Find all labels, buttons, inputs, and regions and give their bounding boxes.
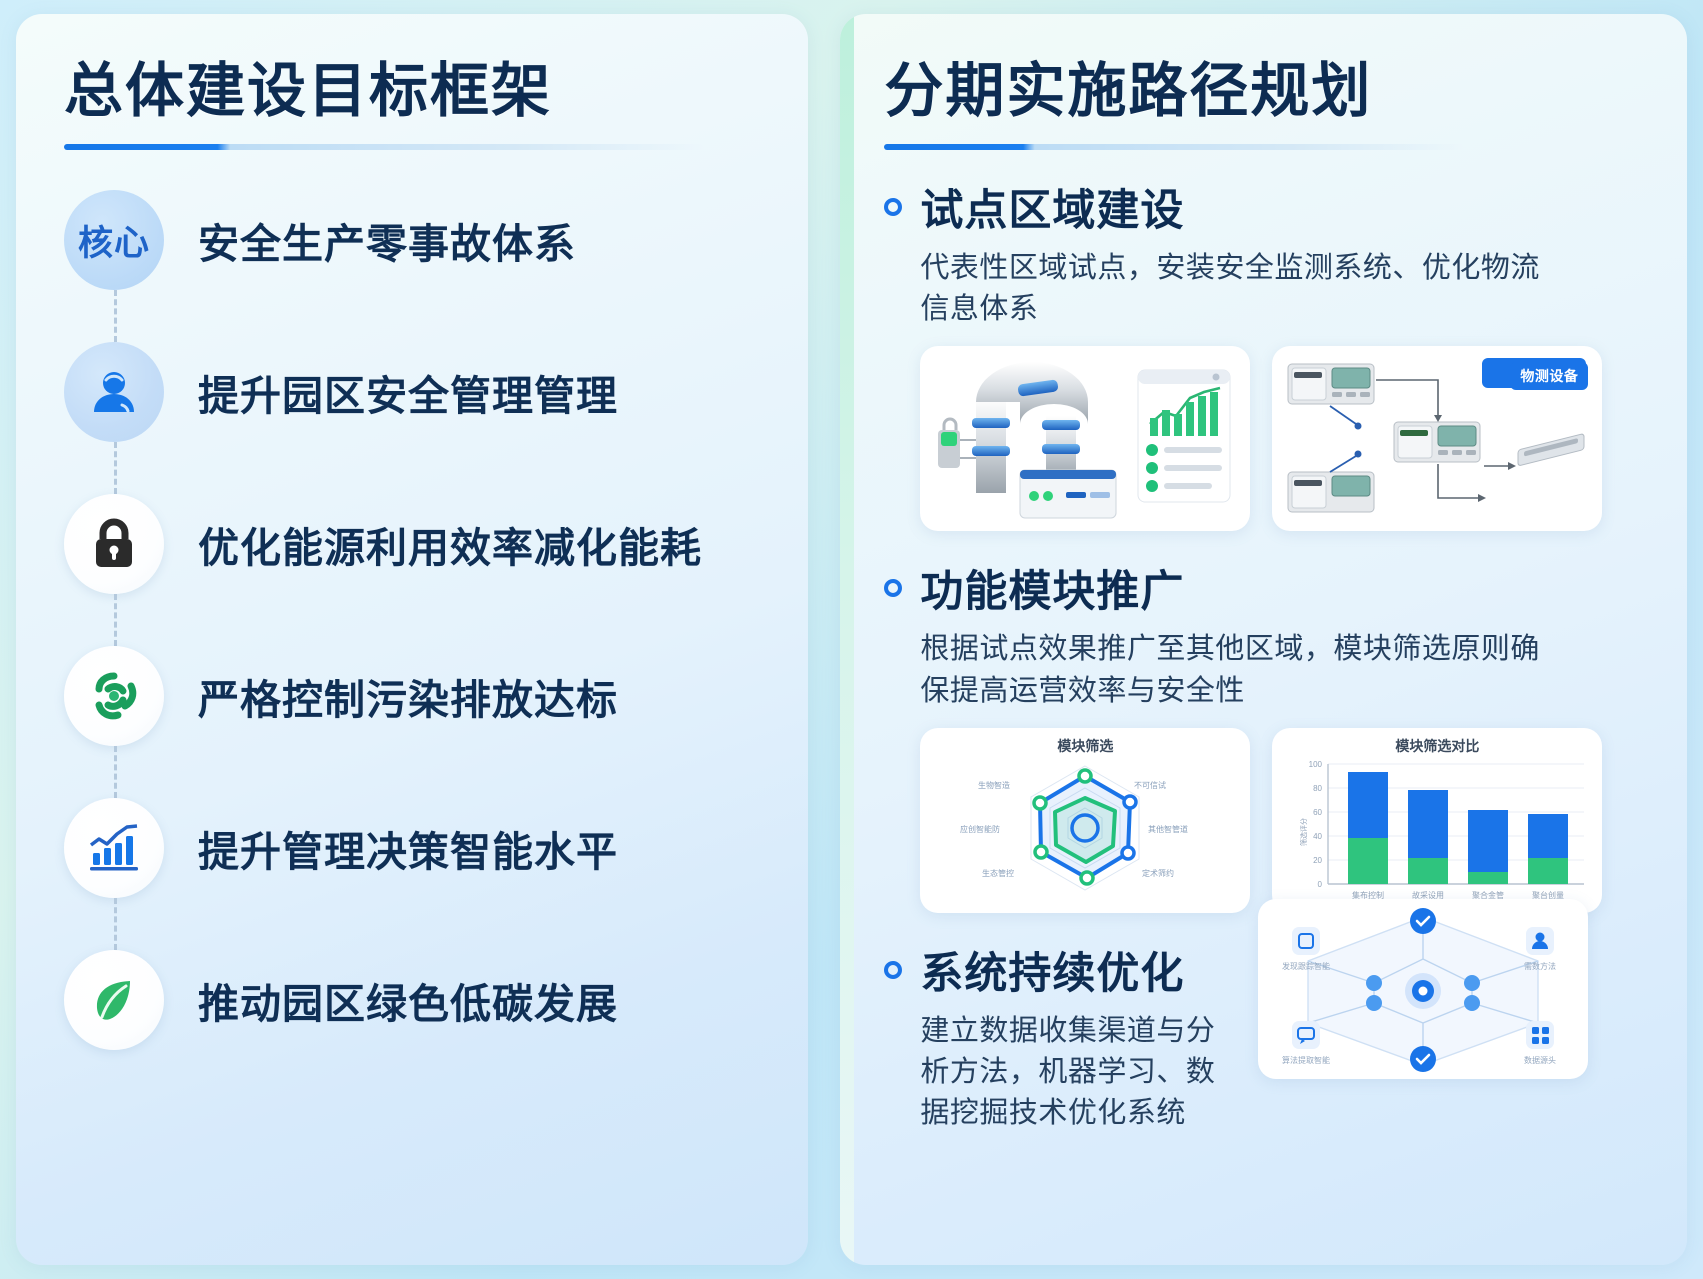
section-continuous-optimization: 系统持续优化 建立数据收集渠道与分析方法，机器学习、数据挖掘技术优化系统: [884, 939, 1643, 1135]
section-card-row: 模块筛选: [920, 728, 1643, 913]
svg-text:80: 80: [1313, 784, 1322, 793]
svg-text:数据源头: 数据源头: [1524, 1055, 1556, 1065]
radar-chart-card[interactable]: 模块筛选: [920, 728, 1250, 913]
timeline-item-label: 严格控制污染排放达标: [198, 666, 618, 726]
system-optimization-network-card[interactable]: 发现跟踪智能 需数方法 算法提取智能 数据源头: [1258, 899, 1588, 1079]
lock-icon: [64, 494, 164, 594]
svg-text:算法提取智能: 算法提取智能: [1282, 1055, 1330, 1065]
svg-text:100: 100: [1309, 760, 1323, 769]
bar-chart-icon: [64, 798, 164, 898]
bullet-ring-icon: [884, 579, 902, 597]
section-body-text: 建立数据收集渠道与分析方法，机器学习、数据挖掘技术优化系统: [920, 1011, 1244, 1135]
section-card-row: 物测设备: [920, 346, 1643, 531]
timeline-item[interactable]: 提升管理决策智能水平: [64, 798, 760, 898]
left-panel: 总体建设目标框架 核心 安全生产零事故体系 提升园区安全管理管理: [16, 14, 808, 1265]
right-title-underline: [884, 144, 1464, 150]
timeline-item[interactable]: 提升园区安全管理管理: [64, 342, 760, 442]
person-icon: [64, 342, 164, 442]
timeline-item-label: 优化能源利用效率减化能耗: [198, 514, 702, 574]
bar-chart-card[interactable]: 模块筛选对比 10080 6040 200: [1272, 728, 1602, 913]
svg-text:其他智管道: 其他智管道: [1148, 824, 1188, 834]
left-panel-title: 总体建设目标框架: [64, 58, 760, 124]
right-panel-title: 分期实施路径规划: [884, 58, 1643, 124]
section-heading: 功能模块推广: [920, 557, 1184, 619]
svg-text:发现跟踪智能: 发现跟踪智能: [1282, 961, 1330, 971]
svg-text:40: 40: [1313, 832, 1322, 841]
timeline-item[interactable]: 严格控制污染排放达标: [64, 646, 760, 746]
instrument-network-diagram[interactable]: 物测设备: [1272, 346, 1602, 531]
timeline-item[interactable]: 核心 安全生产零事故体系: [64, 190, 760, 290]
section-heading: 系统持续优化: [920, 939, 1184, 1001]
svg-text:生态管控: 生态管控: [982, 868, 1014, 878]
section-body-text: 代表性区域试点，安装安全监测系统、优化物流信息体系: [920, 248, 1560, 330]
right-panel: 分期实施路径规划 试点区域建设 代表性区域试点，安装安全监测系统、优化物流信息体…: [840, 14, 1687, 1265]
device-label-chip: 物测设备: [1510, 362, 1588, 390]
section-header[interactable]: 试点区域建设: [884, 176, 1643, 238]
section-pilot-area: 试点区域建设 代表性区域试点，安装安全监测系统、优化物流信息体系: [884, 176, 1643, 531]
svg-text:0: 0: [1318, 880, 1323, 889]
radar-chart-title: 模块筛选: [920, 736, 1250, 756]
swirl-icon: [64, 646, 164, 746]
svg-text:需数方法: 需数方法: [1524, 961, 1556, 971]
section-header[interactable]: 系统持续优化: [884, 939, 1244, 1001]
section-body-text: 根据试点效果推广至其他区域，模块筛选原则确保提高运营效率与安全性: [920, 629, 1560, 711]
bullet-ring-icon: [884, 961, 902, 979]
left-title-underline: [64, 144, 704, 150]
section-header[interactable]: 功能模块推广: [884, 557, 1643, 619]
timeline-item-label: 安全生产零事故体系: [198, 210, 576, 270]
core-badge-label: 核心: [78, 215, 150, 266]
section-heading: 试点区域建设: [920, 176, 1184, 238]
section-module-rollout: 功能模块推广 根据试点效果推广至其他区域，模块筛选原则确保提高运营效率与安全性 …: [884, 557, 1643, 912]
timeline-item[interactable]: 推动园区绿色低碳发展: [64, 950, 760, 1050]
pipeline-equipment-illustration[interactable]: [920, 346, 1250, 531]
svg-text:生物智造: 生物智造: [978, 780, 1010, 790]
core-badge: 核心: [64, 190, 164, 290]
svg-text:20: 20: [1313, 856, 1322, 865]
timeline-item-label: 提升园区安全管理管理: [198, 362, 618, 422]
bar-chart-title: 模块筛选对比: [1272, 736, 1602, 756]
svg-text:定术筛约: 定术筛约: [1142, 868, 1174, 878]
leaf-icon: [64, 950, 164, 1050]
svg-text:不可信试: 不可信试: [1134, 780, 1166, 790]
bullet-ring-icon: [884, 198, 902, 216]
svg-text:筛选评分: 筛选评分: [1299, 818, 1308, 846]
svg-text:应创智能防: 应创智能防: [960, 824, 1000, 834]
goal-timeline: 核心 安全生产零事故体系 提升园区安全管理管理: [64, 190, 760, 1050]
timeline-item[interactable]: 优化能源利用效率减化能耗: [64, 494, 760, 594]
timeline-item-label: 提升管理决策智能水平: [198, 818, 618, 878]
timeline-item-label: 推动园区绿色低碳发展: [198, 970, 618, 1030]
svg-text:60: 60: [1313, 808, 1322, 817]
